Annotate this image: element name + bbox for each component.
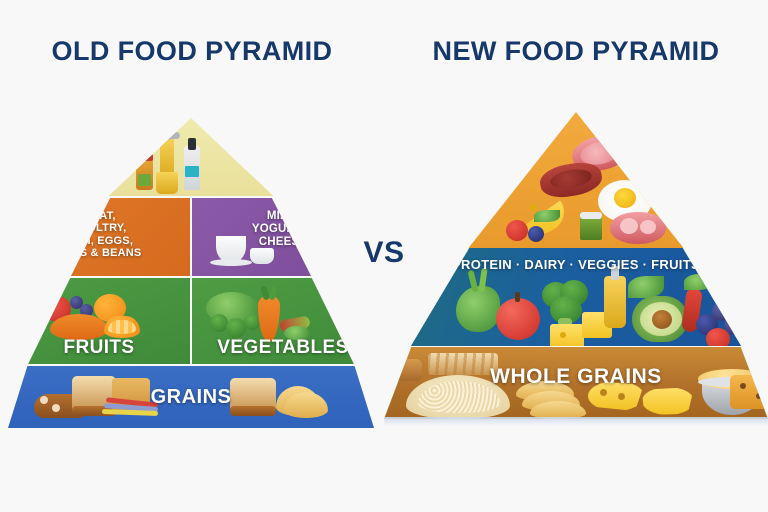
new-pyramid-title: NEW FOOD PYRAMID	[384, 36, 768, 67]
old-tier-produce: FRUITS VEGETABLES	[8, 278, 374, 364]
new-pyramid-shadow	[384, 417, 768, 426]
old-label-meat: MEAT,POULTRY,FISH, EGGS,NUTS & BEANS	[19, 210, 179, 259]
old-tier-fats-oils	[8, 118, 374, 196]
new-tier-whole-grains: WHOLE GRAINS	[384, 347, 768, 419]
old-label-dairy: MILK,YOGURT &CHEESE	[203, 210, 363, 249]
comparison-canvas: OLD FOOD PYRAMID NEW FOOD PYRAMID VS	[0, 0, 768, 512]
new-protein-artwork	[384, 112, 768, 248]
new-label-whole-grains: WHOLE GRAINS	[384, 365, 768, 389]
new-tier-protein	[384, 112, 768, 248]
new-tier-mixed: PROTEIN · DAIRY · VEGGIES · FRUITS	[384, 248, 768, 346]
old-pyramid-title: OLD FOOD PYRAMID	[0, 36, 384, 67]
old-label-grains: GRAINS	[8, 386, 374, 408]
old-tier-protein: MEAT,POULTRY,FISH, EGGS,NUTS & BEANS MIL…	[8, 198, 374, 276]
old-segment-vegetables: VEGETABLES	[190, 278, 374, 364]
old-segment-meat: MEAT,POULTRY,FISH, EGGS,NUTS & BEANS	[8, 198, 190, 276]
old-label-fruits: FRUITS	[8, 337, 190, 358]
fats-oils-artwork	[8, 118, 374, 196]
new-label-mixed: PROTEIN · DAIRY · VEGGIES · FRUITS	[384, 258, 768, 273]
new-food-pyramid: PROTEIN · DAIRY · VEGGIES · FRUITS	[384, 112, 768, 432]
old-label-vegetables: VEGETABLES	[192, 337, 374, 358]
old-tier-grains: GRAINS	[8, 366, 374, 428]
old-food-pyramid: MEAT,POULTRY,FISH, EGGS,NUTS & BEANS MIL…	[8, 118, 374, 430]
old-segment-fruits: FRUITS	[8, 278, 190, 364]
old-segment-dairy: MILK,YOGURT &CHEESE	[190, 198, 374, 276]
